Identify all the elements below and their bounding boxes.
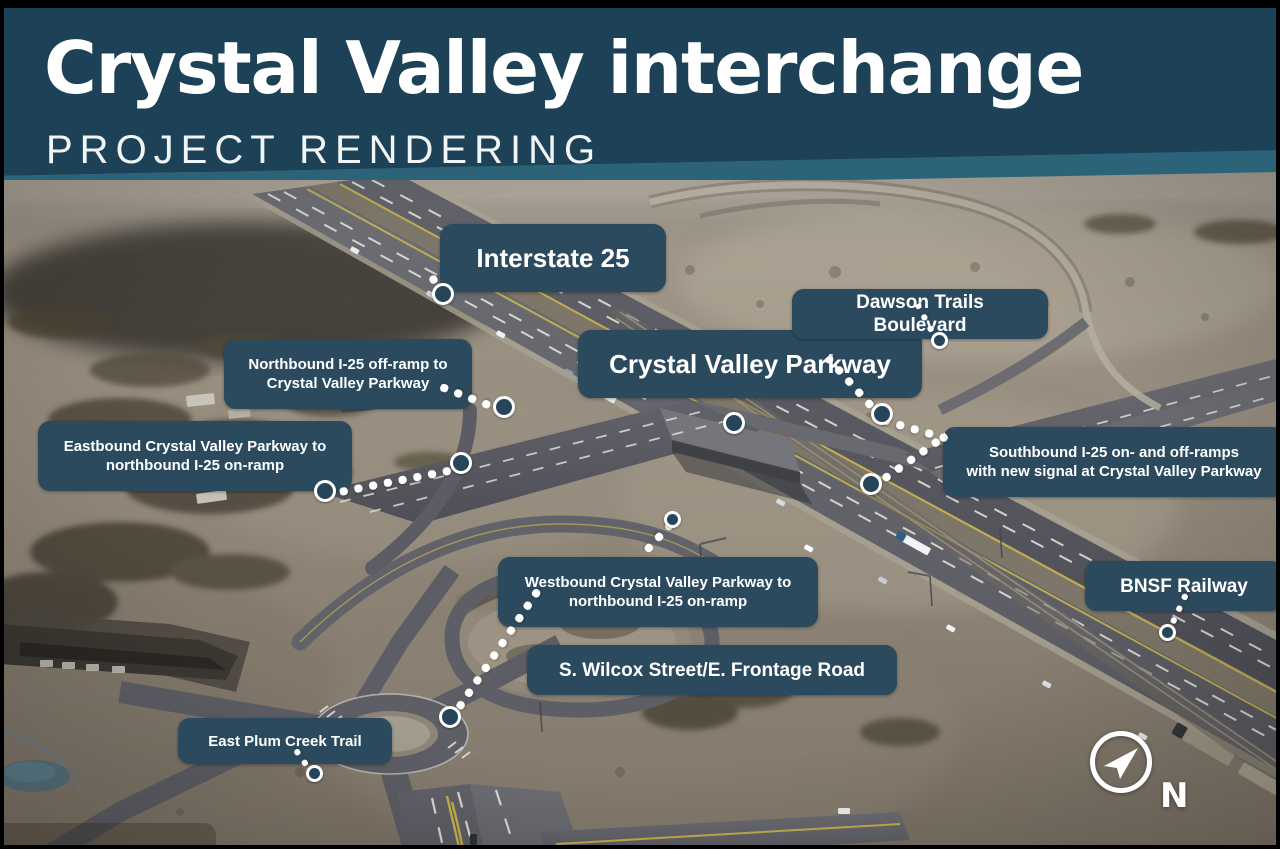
marker-sb-ramps-upper[interactable] — [723, 412, 745, 434]
marker-east-plum-creek-trail[interactable] — [306, 765, 323, 782]
marker-interstate-25[interactable] — [432, 283, 454, 305]
compass-north-arrow-icon — [1102, 746, 1142, 780]
marker-sb-ramps-lower[interactable] — [860, 473, 882, 495]
frame-right — [1276, 0, 1280, 849]
marker-wb-onramp[interactable] — [664, 511, 681, 528]
callout-westbound-onramp[interactable]: Westbound Crystal Valley Parkway to nort… — [498, 557, 818, 627]
marker-crystal-valley-pkwy[interactable] — [871, 403, 893, 425]
marker-dawson-trails-blvd[interactable] — [931, 332, 948, 349]
callout-southbound-ramps[interactable]: Southbound I-25 on- and off-ramps with n… — [943, 427, 1280, 497]
header-banner: Crystal Valley interchange PROJECT RENDE… — [0, 0, 1280, 180]
page-title: Crystal Valley interchange — [44, 30, 1083, 106]
project-rendering-graphic: Crystal Valley interchange PROJECT RENDE… — [0, 0, 1280, 849]
callout-eastbound-onramp[interactable]: Eastbound Crystal Valley Parkway to nort… — [38, 421, 352, 491]
callout-interstate-25[interactable]: Interstate 25 — [440, 224, 666, 292]
marker-eb-onramp[interactable] — [314, 480, 336, 502]
callout-northbound-offramp[interactable]: Northbound I-25 off-ramp to Crystal Vall… — [224, 339, 472, 409]
marker-bnsf-railway[interactable] — [1159, 624, 1176, 641]
callout-east-plum-creek-trail[interactable]: East Plum Creek Trail — [178, 718, 392, 764]
marker-wilcox-frontage[interactable] — [439, 706, 461, 728]
callout-wilcox-frontage-road[interactable]: S. Wilcox Street/E. Frontage Road — [527, 645, 897, 695]
marker-nb-offramp[interactable] — [493, 396, 515, 418]
compass-rose: N — [1090, 731, 1220, 811]
marker-roundabout-connector[interactable] — [450, 452, 472, 474]
callout-crystal-valley-parkway[interactable]: Crystal Valley Parkway — [578, 330, 922, 398]
frame-left — [0, 0, 4, 849]
page-subtitle: PROJECT RENDERING — [46, 128, 602, 172]
compass-north-label: N — [1160, 779, 1188, 813]
frame-bottom — [0, 845, 1280, 849]
frame-top — [0, 0, 1280, 8]
